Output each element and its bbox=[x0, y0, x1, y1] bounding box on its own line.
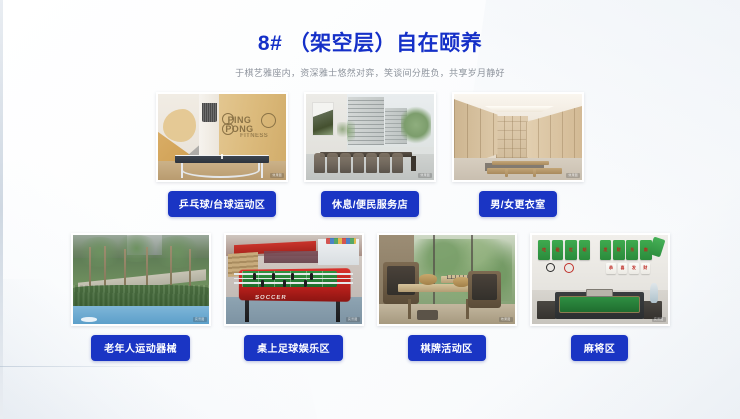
image-watermark: 实景图 bbox=[346, 317, 360, 322]
foosball-brand-text: SOCCER bbox=[255, 295, 287, 301]
amenity-label-mahjong[interactable]: 麻将区 bbox=[571, 335, 628, 361]
image-watermark: 效果图 bbox=[499, 317, 513, 322]
amenity-label-rest-service[interactable]: 休息/便民服务店 bbox=[321, 191, 419, 217]
mahjong-wall-decor: 吃 碰 杠 胡 发 财 东 南 bbox=[538, 240, 660, 260]
page-subtitle: 于棋艺雅座内，资深雅士悠然对弈，笑谈间分胜负，共享岁月静好 bbox=[0, 66, 740, 79]
scene-terrace-lounge bbox=[306, 94, 434, 180]
image-watermark: 效果图 bbox=[270, 173, 284, 178]
thumbnail-locker-room[interactable]: 效果图 bbox=[452, 92, 584, 182]
image-watermark: 实景图 bbox=[652, 317, 666, 322]
amenity-card-senior-fitness[interactable]: 实景图 老年人运动器械 bbox=[71, 233, 211, 361]
scene-chess-lounge bbox=[379, 235, 515, 324]
scene-ping-pong: PING PONG FITNESS bbox=[158, 94, 286, 180]
thumbnail-foosball-table[interactable]: SOCCER 实景图 bbox=[224, 233, 364, 326]
image-watermark: 效果图 bbox=[418, 173, 432, 178]
thumbnail-chess-lounge[interactable]: 效果图 bbox=[377, 233, 517, 326]
amenity-label-foosball[interactable]: 桌上足球娱乐区 bbox=[244, 335, 343, 361]
background-accent-band bbox=[0, 366, 190, 367]
amenity-label-senior-fitness[interactable]: 老年人运动器械 bbox=[91, 335, 190, 361]
amenity-card-chess-lounge[interactable]: 效果图 棋牌活动区 bbox=[377, 233, 517, 361]
scene-locker-room bbox=[454, 94, 582, 180]
amenity-row-bottom: 实景图 老年人运动器械 bbox=[0, 233, 740, 361]
wall-art bbox=[312, 102, 334, 136]
amenity-row-top: PING PONG FITNESS 效果图 乒乓球/台球运动 bbox=[0, 92, 740, 217]
thumbnail-terrace-lounge[interactable]: 效果图 bbox=[304, 92, 436, 182]
thumbnail-mahjong-room[interactable]: 吃 碰 杠 胡 发 财 东 南 恭 喜 发 bbox=[530, 233, 670, 326]
amenity-label-ping-pong[interactable]: 乒乓球/台球运动区 bbox=[168, 191, 276, 217]
amenity-card-foosball[interactable]: SOCCER 实景图 桌上足球娱乐区 bbox=[224, 233, 364, 361]
amenity-card-rest-service[interactable]: 效果图 休息/便民服务店 bbox=[304, 92, 436, 217]
image-watermark: 效果图 bbox=[566, 173, 580, 178]
image-watermark: 实景图 bbox=[193, 317, 207, 322]
thumbnail-ping-pong-room[interactable]: PING PONG FITNESS 效果图 bbox=[156, 92, 288, 182]
page-title: 8# （架空层）自在颐养 bbox=[0, 32, 740, 55]
ping-pong-wall-graphic: PING PONG FITNESS bbox=[222, 113, 278, 142]
scene-garden bbox=[73, 235, 209, 324]
amenity-card-mahjong[interactable]: 吃 碰 杠 胡 发 财 东 南 恭 喜 发 bbox=[530, 233, 670, 361]
amenity-card-ping-pong[interactable]: PING PONG FITNESS 效果图 乒乓球/台球运动 bbox=[156, 92, 288, 217]
amenity-label-chess-lounge[interactable]: 棋牌活动区 bbox=[408, 335, 486, 361]
slide-canvas: 8# （架空层）自在颐养 于棋艺雅座内，资深雅士悠然对弈，笑谈间分胜负，共享岁月… bbox=[0, 0, 740, 419]
amenity-card-locker-room[interactable]: 效果图 男/女更衣室 bbox=[452, 92, 584, 217]
amenity-label-locker-room[interactable]: 男/女更衣室 bbox=[479, 191, 556, 217]
slide-header: 8# （架空层）自在颐养 于棋艺雅座内，资深雅士悠然对弈，笑谈间分胜负，共享岁月… bbox=[0, 32, 740, 79]
scene-foosball: SOCCER bbox=[226, 235, 362, 324]
thumbnail-garden-landscape[interactable]: 实景图 bbox=[71, 233, 211, 326]
scene-mahjong-room: 吃 碰 杠 胡 发 财 东 南 恭 喜 发 bbox=[532, 235, 668, 324]
